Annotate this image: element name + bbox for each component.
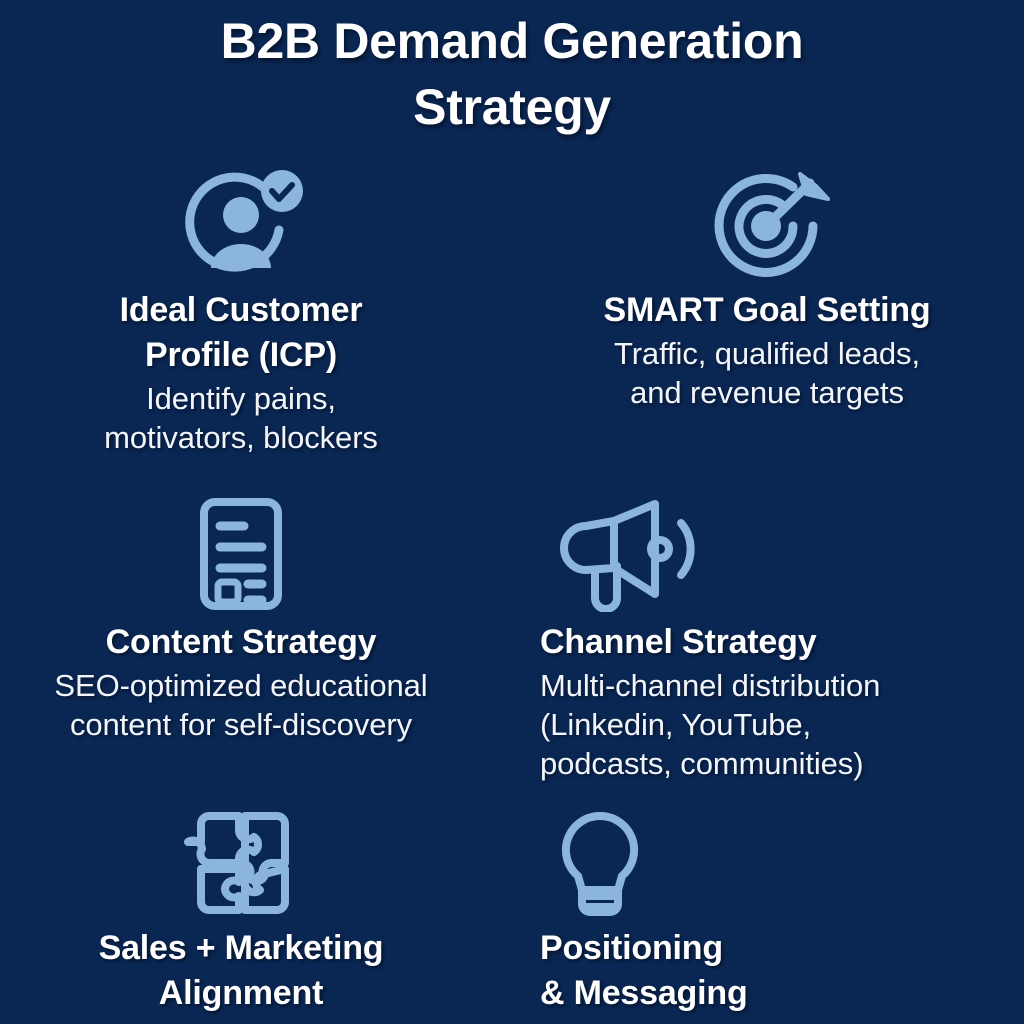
- megaphone-icon: [532, 496, 1002, 612]
- card-description: Identify pains, motivators, blockers: [6, 379, 476, 457]
- card-title: SMART Goal Setting: [532, 288, 1002, 333]
- infographic-canvas: B2B Demand Generation Strategy Ideal Cus…: [0, 0, 1024, 1024]
- card-positioning-messaging: Positioning & Messaging: [532, 808, 1002, 1017]
- card-title: Positioning & Messaging: [532, 926, 1002, 1016]
- card-description: Multi-channel distribution (Linkedin, Yo…: [532, 666, 1002, 783]
- target-arrow-icon: [532, 168, 1002, 280]
- card-description: SEO-optimized educational content for se…: [6, 666, 476, 744]
- card-title: Content Strategy: [6, 620, 476, 665]
- document-lines-icon: [6, 496, 476, 612]
- card-content-strategy: Content Strategy SEO-optimized education…: [6, 496, 476, 744]
- card-title: Sales + Marketing Alignment: [6, 926, 476, 1016]
- card-title: Channel Strategy: [532, 620, 1002, 665]
- card-smart-goal-setting: SMART Goal Setting Traffic, qualified le…: [532, 168, 1002, 412]
- card-ideal-customer-profile: Ideal Customer Profile (ICP) Identify pa…: [6, 168, 476, 458]
- page-title: B2B Demand Generation Strategy: [0, 8, 1024, 140]
- card-description: Traffic, qualified leads, and revenue ta…: [532, 334, 1002, 412]
- user-check-icon: [6, 168, 476, 280]
- card-title: Ideal Customer Profile (ICP): [6, 288, 476, 378]
- lightbulb-icon: [532, 808, 1002, 918]
- card-channel-strategy: Channel Strategy Multi-channel distribut…: [532, 496, 1002, 783]
- card-sales-marketing-alignment: Sales + Marketing Alignment: [6, 808, 476, 1017]
- puzzle-pieces-icon: [6, 808, 476, 918]
